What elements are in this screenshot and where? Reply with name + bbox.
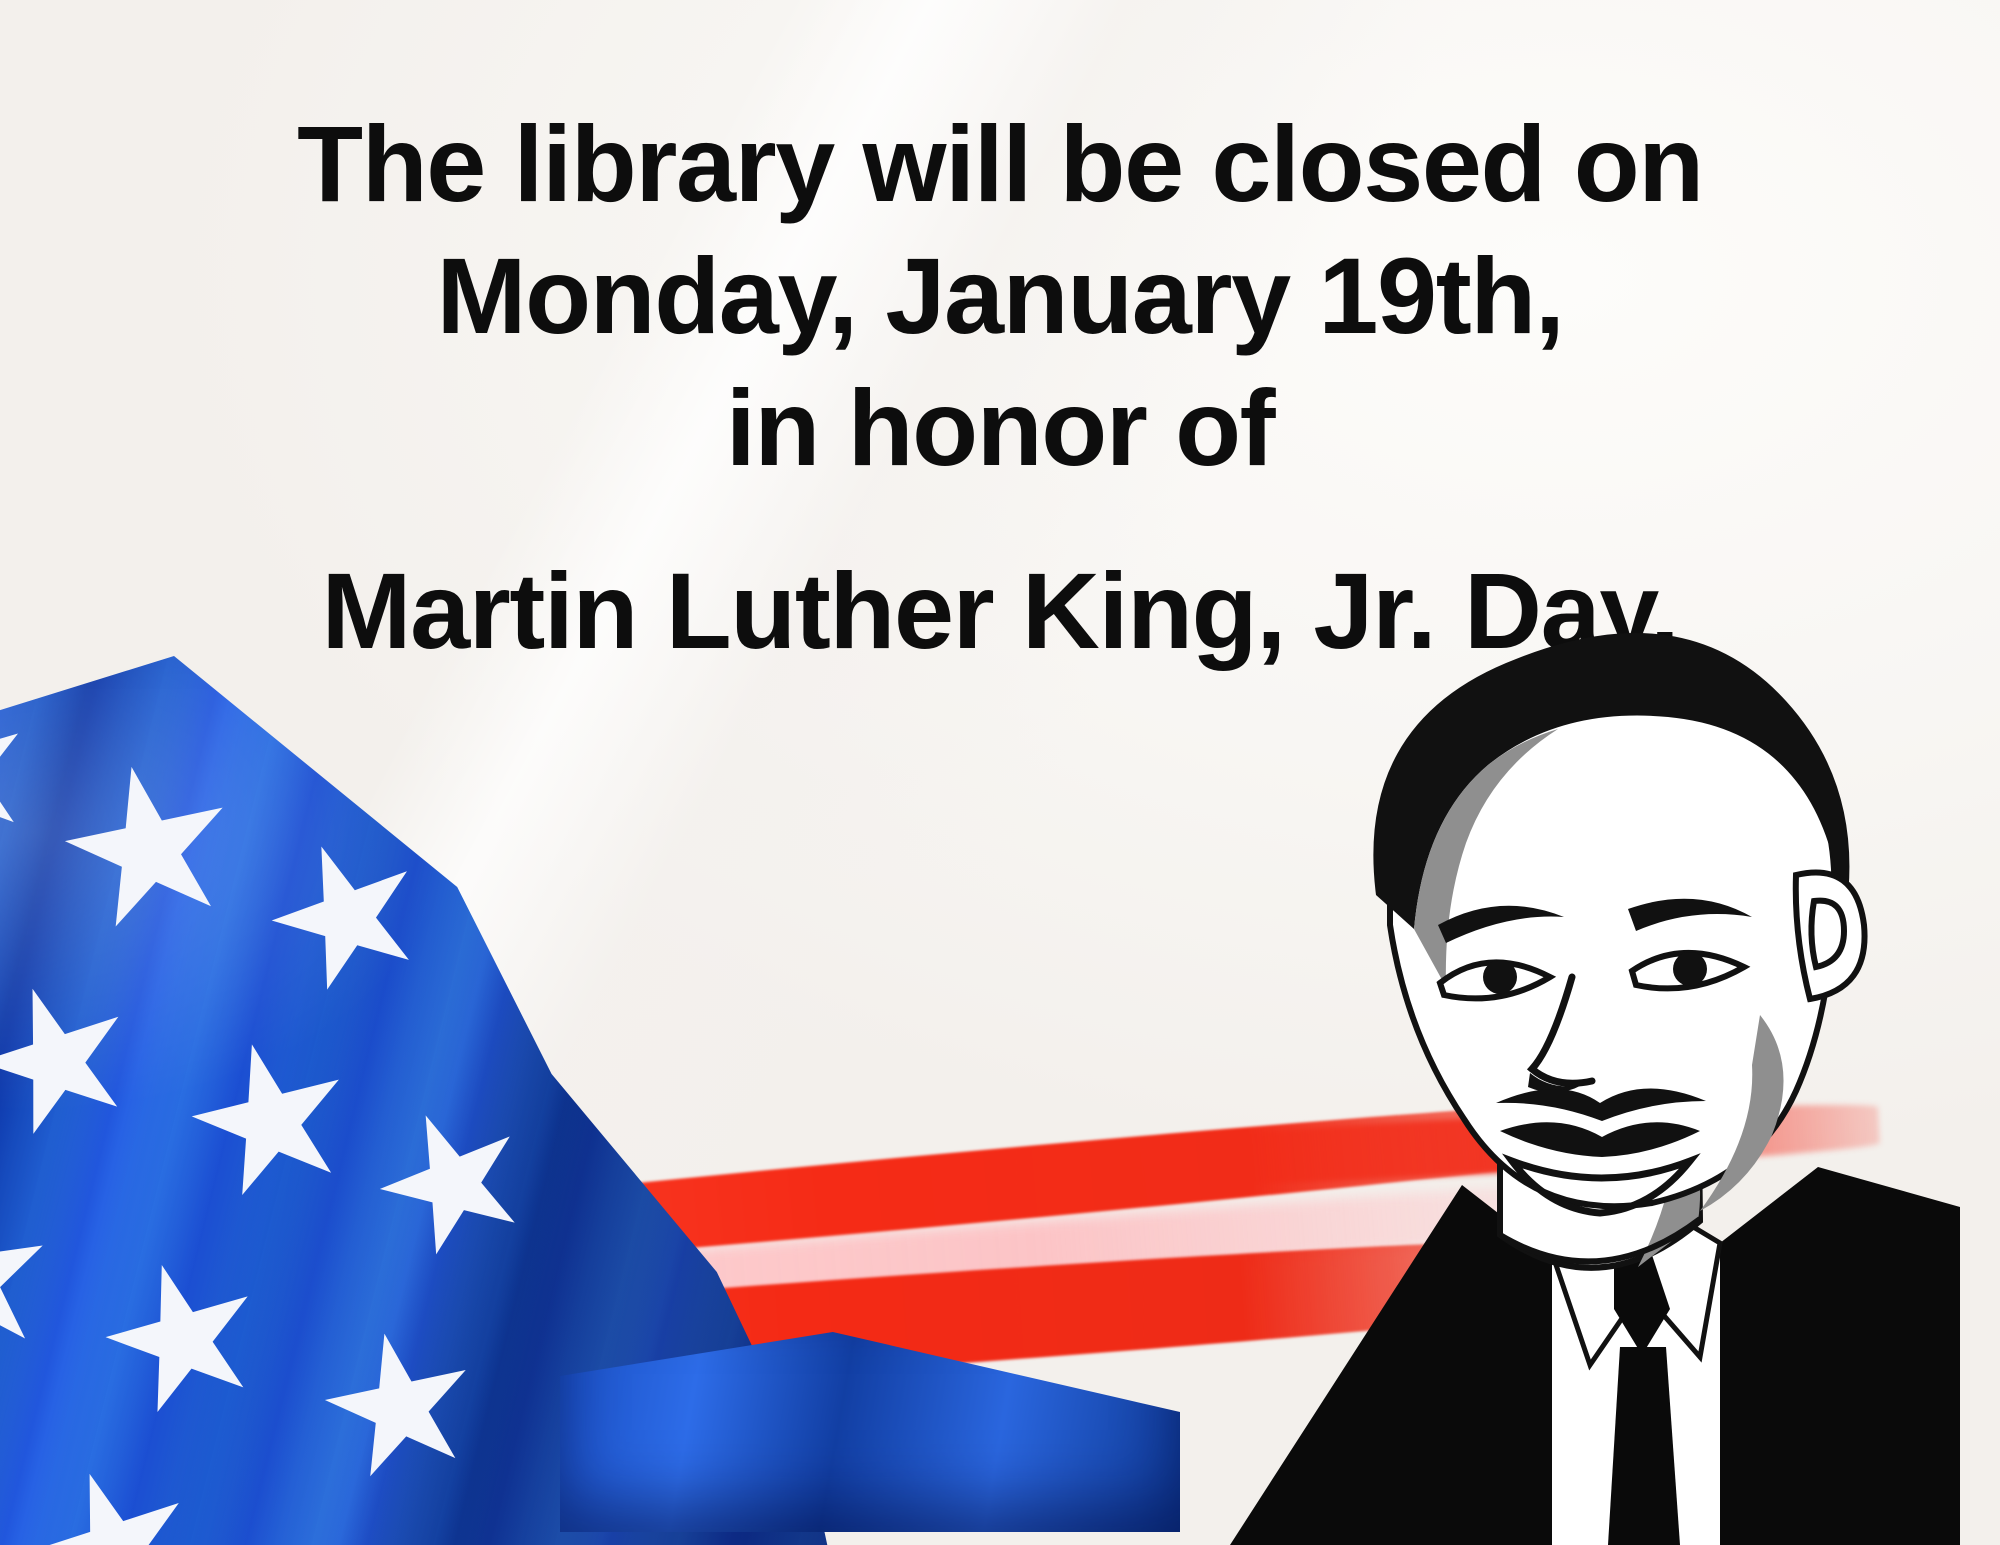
portrait-suit-right xyxy=(1720,1167,1960,1545)
headline-block: The library will be closed on Monday, Ja… xyxy=(0,98,2000,677)
poster-canvas: The library will be closed on Monday, Ja… xyxy=(0,0,2000,1545)
headline-line-2: Monday, January 19th, xyxy=(0,230,2000,362)
martin-luther-king-jr-portrait xyxy=(1200,595,1960,1545)
portrait-pupil-left xyxy=(1483,960,1517,994)
headline-line-3: in honor of xyxy=(0,362,2000,494)
portrait-pupil-right xyxy=(1673,952,1707,986)
flag-blue-drape-band xyxy=(560,1332,1180,1532)
headline-line-1: The library will be closed on xyxy=(0,98,2000,230)
portrait-ear xyxy=(1796,872,1865,999)
